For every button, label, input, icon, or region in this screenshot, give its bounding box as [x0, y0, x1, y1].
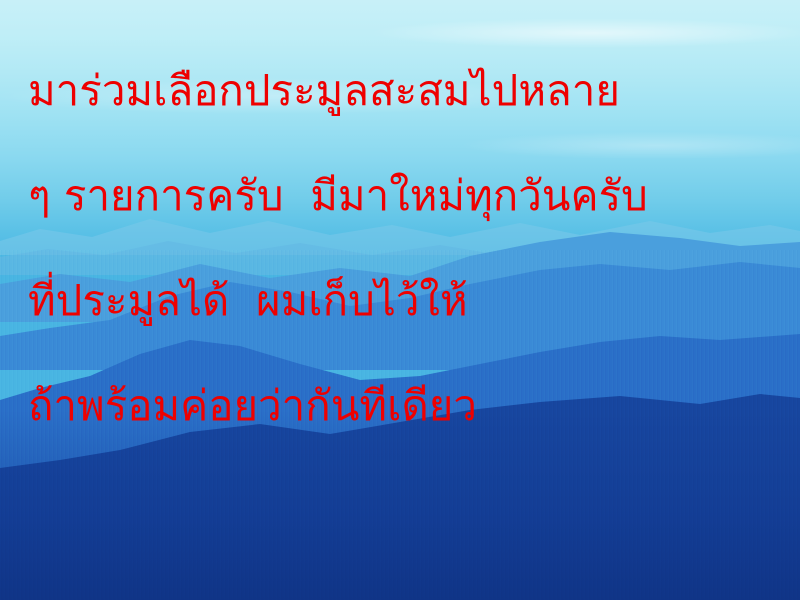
caption-line-4: ถ้าพร้อมค่อยว่ากันทีเดียว — [28, 353, 800, 458]
image-canvas: มาร่วมเลือกประมูลสะสมไปหลาย ๆ รายการครับ… — [0, 0, 800, 600]
caption-overlay: มาร่วมเลือกประมูลสะสมไปหลาย ๆ รายการครับ… — [0, 0, 800, 600]
caption-line-3: ที่ประมูลได้ ผมเก็บไว้ให้ — [28, 248, 800, 353]
caption-line-1: มาร่วมเลือกประมูลสะสมไปหลาย — [28, 38, 800, 143]
caption-line-2: ๆ รายการครับ มีมาใหม่ทุกวันครับ — [28, 143, 800, 248]
